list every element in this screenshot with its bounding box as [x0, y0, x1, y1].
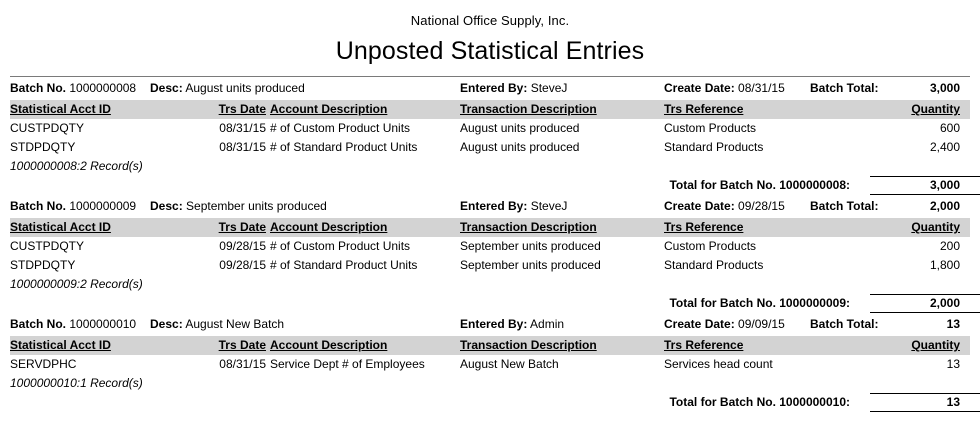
total-rule-bottom — [870, 194, 980, 195]
batch-no-label: Batch No. — [10, 81, 66, 95]
col-header-trs-ref[interactable]: Trs Reference — [664, 218, 743, 237]
cell-quantity: 200 — [940, 237, 960, 256]
cell-trs-date: 08/31/15 — [208, 119, 266, 138]
table-row[interactable]: CUSTPDQTY 08/31/15 # of Custom Product U… — [10, 119, 970, 138]
cell-trs-date: 09/28/15 — [208, 237, 266, 256]
batch-total-amount: 2,000 — [930, 294, 960, 313]
cell-acct-id: SERVDPHC — [10, 355, 76, 374]
detail-rows: CUSTPDQTY 09/28/15 # of Custom Product U… — [10, 237, 970, 275]
batch-total-amount: 13 — [947, 393, 960, 412]
col-header-trs-date[interactable]: Trs Date — [208, 218, 266, 237]
batch-no-cell: Batch No. 1000000009 — [10, 196, 136, 217]
column-header-row: Statistical Acct ID Trs Date Account Des… — [10, 100, 970, 119]
cell-acct-id: STDPDQTY — [10, 256, 75, 275]
batch-total-row: Total for Batch No. 1000000008: 3,000 — [10, 176, 970, 195]
table-row[interactable]: CUSTPDQTY 09/28/15 # of Custom Product U… — [10, 237, 970, 256]
create-date-label: Create Date: — [664, 199, 735, 213]
batch-desc-cell: Desc: September units produced — [150, 196, 327, 217]
col-header-acct-desc[interactable]: Account Description — [270, 218, 387, 237]
entered-by-label: Entered By: — [460, 81, 527, 95]
cell-quantity: 13 — [947, 355, 960, 374]
record-count-label: 1000000010:1 Record(s) — [10, 374, 143, 393]
col-header-trs-ref[interactable]: Trs Reference — [664, 100, 743, 119]
batch-no-value: 1000000008 — [69, 81, 136, 95]
entered-by-cell: Entered By: Admin — [460, 314, 564, 335]
column-header-row: Statistical Acct ID Trs Date Account Des… — [10, 218, 970, 237]
desc-label: Desc: — [150, 317, 183, 331]
report-header: National Office Supply, Inc. Unposted St… — [10, 0, 970, 68]
cell-acct-desc: # of Standard Product Units — [270, 138, 417, 157]
batch-total-text: Total for Batch No. 1000000009: — [669, 294, 850, 313]
record-count-row: 1000000008:2 Record(s) — [10, 157, 970, 176]
desc-label: Desc: — [150, 81, 183, 95]
cell-trs-ref: Standard Products — [664, 138, 763, 157]
total-rule-bottom — [870, 312, 980, 313]
col-header-trs-desc[interactable]: Transaction Description — [460, 336, 597, 355]
batch-no-cell: Batch No. 1000000010 — [10, 314, 136, 335]
cell-trs-desc: September units produced — [460, 237, 601, 256]
batch-block: Batch No. 1000000010 Desc: August New Ba… — [10, 314, 970, 412]
col-header-trs-desc[interactable]: Transaction Description — [460, 100, 597, 119]
column-header-row: Statistical Acct ID Trs Date Account Des… — [10, 336, 970, 355]
table-row[interactable]: SERVDPHC 08/31/15 Service Dept # of Empl… — [10, 355, 970, 374]
cell-quantity: 2,400 — [930, 138, 960, 157]
total-rule-bottom — [870, 411, 980, 412]
col-header-acct-desc[interactable]: Account Description — [270, 336, 387, 355]
batch-total-text: Total for Batch No. 1000000010: — [669, 393, 850, 412]
report-page: National Office Supply, Inc. Unposted St… — [0, 0, 980, 422]
entered-by-label: Entered By: — [460, 317, 527, 331]
record-count-row: 1000000009:2 Record(s) — [10, 275, 970, 294]
total-rule-top — [870, 176, 980, 177]
batch-no-value: 1000000010 — [69, 317, 136, 331]
batch-desc-value: August New Batch — [185, 317, 284, 331]
batch-no-label: Batch No. — [10, 317, 66, 331]
record-count-row: 1000000010:1 Record(s) — [10, 374, 970, 393]
batch-total-row: Total for Batch No. 1000000010: 13 — [10, 393, 970, 412]
cell-trs-desc: September units produced — [460, 256, 601, 275]
cell-quantity: 600 — [940, 119, 960, 138]
cell-acct-desc: # of Custom Product Units — [270, 237, 410, 256]
batch-desc-cell: Desc: August New Batch — [150, 314, 284, 335]
create-date-value: 09/09/15 — [738, 317, 785, 331]
col-header-acct-id[interactable]: Statistical Acct ID — [10, 218, 111, 237]
header-divider — [10, 76, 970, 77]
cell-trs-date: 08/31/15 — [208, 138, 266, 157]
cell-trs-desc: August units produced — [460, 138, 579, 157]
cell-trs-date: 08/31/15 — [208, 355, 266, 374]
create-date-cell: Create Date: 09/09/15 — [664, 314, 785, 335]
col-header-trs-ref[interactable]: Trs Reference — [664, 336, 743, 355]
detail-rows: CUSTPDQTY 08/31/15 # of Custom Product U… — [10, 119, 970, 157]
cell-acct-desc: # of Standard Product Units — [270, 256, 417, 275]
batch-block: Batch No. 1000000008 Desc: August units … — [10, 78, 970, 195]
col-header-quantity[interactable]: Quantity — [911, 100, 960, 119]
batch-block: Batch No. 1000000009 Desc: September uni… — [10, 196, 970, 313]
company-name: National Office Supply, Inc. — [10, 12, 970, 30]
batch-desc-value: September units produced — [186, 199, 327, 213]
entered-by-cell: Entered By: SteveJ — [460, 196, 567, 217]
report-title: Unposted Statistical Entries — [10, 34, 970, 68]
entered-by-value: Admin — [530, 317, 564, 331]
entered-by-label: Entered By: — [460, 199, 527, 213]
cell-trs-desc: August New Batch — [460, 355, 559, 374]
cell-quantity: 1,800 — [930, 256, 960, 275]
batch-total-value: 3,000 — [930, 78, 960, 99]
table-row[interactable]: STDPDQTY 09/28/15 # of Standard Product … — [10, 256, 970, 275]
col-header-acct-desc[interactable]: Account Description — [270, 100, 387, 119]
batch-total-row: Total for Batch No. 1000000009: 2,000 — [10, 294, 970, 313]
batch-total-value: 13 — [947, 314, 960, 335]
cell-trs-desc: August units produced — [460, 119, 579, 138]
batch-total-text: Total for Batch No. 1000000008: — [669, 176, 850, 195]
batch-info-row: Batch No. 1000000008 Desc: August units … — [10, 78, 970, 99]
col-header-trs-desc[interactable]: Transaction Description — [460, 218, 597, 237]
batch-desc-value: August units produced — [185, 81, 304, 95]
cell-acct-desc: # of Custom Product Units — [270, 119, 410, 138]
cell-acct-desc: Service Dept # of Employees — [270, 355, 425, 374]
cell-trs-ref: Standard Products — [664, 256, 763, 275]
batch-total-label: Batch Total: — [810, 196, 878, 217]
entered-by-value: SteveJ — [531, 199, 568, 213]
batch-no-label: Batch No. — [10, 199, 66, 213]
create-date-cell: Create Date: 08/31/15 — [664, 78, 785, 99]
cell-acct-id: CUSTPDQTY — [10, 237, 84, 256]
col-header-acct-id[interactable]: Statistical Acct ID — [10, 100, 111, 119]
col-header-trs-date[interactable]: Trs Date — [208, 100, 266, 119]
entered-by-cell: Entered By: SteveJ — [460, 78, 567, 99]
col-header-quantity[interactable]: Quantity — [911, 218, 960, 237]
cell-trs-ref: Services head count — [664, 355, 773, 374]
cell-acct-id: CUSTPDQTY — [10, 119, 84, 138]
table-row[interactable]: STDPDQTY 08/31/15 # of Standard Product … — [10, 138, 970, 157]
cell-trs-ref: Custom Products — [664, 119, 756, 138]
batch-total-label: Batch Total: — [810, 78, 878, 99]
desc-label: Desc: — [150, 199, 183, 213]
record-count-label: 1000000009:2 Record(s) — [10, 275, 143, 294]
create-date-value: 08/31/15 — [738, 81, 785, 95]
cell-acct-id: STDPDQTY — [10, 138, 75, 157]
batch-total-label: Batch Total: — [810, 314, 878, 335]
total-rule-top — [870, 393, 980, 394]
total-rule-top — [870, 294, 980, 295]
cell-trs-ref: Custom Products — [664, 237, 756, 256]
record-count-label: 1000000008:2 Record(s) — [10, 157, 143, 176]
batch-desc-cell: Desc: August units produced — [150, 78, 305, 99]
cell-trs-date: 09/28/15 — [208, 256, 266, 275]
batch-no-cell: Batch No. 1000000008 — [10, 78, 136, 99]
create-date-label: Create Date: — [664, 81, 735, 95]
batch-no-value: 1000000009 — [69, 199, 136, 213]
create-date-cell: Create Date: 09/28/15 — [664, 196, 785, 217]
batch-total-value: 2,000 — [930, 196, 960, 217]
batch-info-row: Batch No. 1000000010 Desc: August New Ba… — [10, 314, 970, 335]
col-header-quantity[interactable]: Quantity — [911, 336, 960, 355]
create-date-label: Create Date: — [664, 317, 735, 331]
col-header-acct-id[interactable]: Statistical Acct ID — [10, 336, 111, 355]
col-header-trs-date[interactable]: Trs Date — [208, 336, 266, 355]
detail-rows: SERVDPHC 08/31/15 Service Dept # of Empl… — [10, 355, 970, 374]
entered-by-value: SteveJ — [531, 81, 568, 95]
batch-list: Batch No. 1000000008 Desc: August units … — [10, 78, 970, 412]
create-date-value: 09/28/15 — [738, 199, 785, 213]
batch-info-row: Batch No. 1000000009 Desc: September uni… — [10, 196, 970, 217]
batch-total-amount: 3,000 — [930, 176, 960, 195]
